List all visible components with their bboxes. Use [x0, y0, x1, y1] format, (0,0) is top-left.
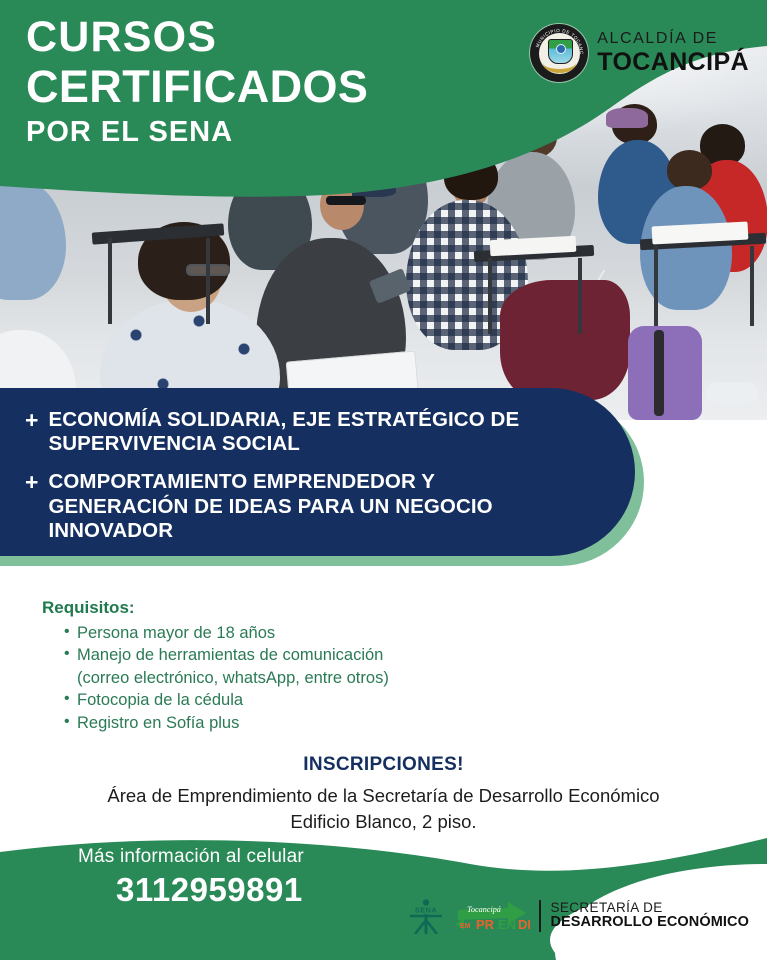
title-line-3: POR EL SENA: [26, 118, 368, 147]
plus-icon: +: [25, 408, 38, 433]
desk-leg: [108, 238, 112, 324]
shoe: [706, 382, 758, 404]
title-line-1: CURSOS: [26, 16, 368, 59]
municipal-seal-icon: MUNICIPIO DE TOCANCIPÁ INCLUSIÓN Y PROGR…: [530, 24, 588, 82]
sena-logo-icon: SENA: [407, 898, 445, 934]
header-title-block: CURSOS CERTIFICADOS POR EL SENA: [26, 16, 368, 147]
backpack: [628, 326, 702, 420]
alcaldia-line-2: TOCANCIPÁ: [597, 50, 749, 75]
seal-inner: [539, 33, 580, 74]
course-title: COMPORTAMIENTO EMPRENDEDOR Y GENERACIÓN …: [48, 470, 565, 543]
person-hat: [606, 108, 648, 128]
alcaldia-text: ALCALDÍA DE TOCANCIPÁ: [597, 31, 749, 75]
inscriptions-line-1: Área de Emprendimiento de la Secretaría …: [0, 784, 767, 808]
svg-text:DE: DE: [518, 917, 530, 932]
course-item: + ECONOMÍA SOLIDARIA, EJE ESTRATÉGICO DE…: [25, 408, 565, 456]
footer-section: Más información al celular 3112959891 SE…: [0, 820, 767, 960]
requirements-title: Requisitos:: [42, 598, 389, 618]
tocancipa-emprende-logo-icon: Tocancipá EM PR EN DE: [454, 898, 530, 934]
requirements-list: Persona mayor de 18 años Manejo de herra…: [42, 622, 389, 734]
desk-leg: [206, 238, 210, 324]
logo-divider: [539, 900, 541, 932]
backpack-strap: [654, 330, 664, 416]
footer-phone-number[interactable]: 3112959891: [116, 873, 304, 906]
desk-leg: [750, 246, 754, 326]
svg-text:Tocancipá: Tocancipá: [468, 905, 502, 914]
svg-text:EM: EM: [460, 923, 471, 930]
secretaria-line-2: DESARROLLO ECONÓMICO: [550, 915, 749, 931]
course-title: ECONOMÍA SOLIDARIA, EJE ESTRATÉGICO DE S…: [48, 408, 565, 456]
svg-text:SENA: SENA: [415, 906, 437, 915]
seal-wreath: [543, 53, 576, 73]
requirement-item: Manejo de herramientas de comunicación: [64, 644, 389, 666]
glasses-icon: [326, 196, 366, 205]
alcaldia-line-1: ALCALDÍA DE: [597, 31, 749, 47]
requirements-block: Requisitos: Persona mayor de 18 años Man…: [42, 598, 389, 734]
footer-contact: Más información al celular 3112959891: [78, 847, 304, 906]
person-body: [500, 280, 630, 400]
requirement-item: Fotocopia de la cédula: [64, 689, 389, 711]
title-line-2: CERTIFICADOS: [26, 64, 368, 109]
inscriptions-title: INSCRIPCIONES!: [0, 754, 767, 776]
plus-icon: +: [25, 470, 38, 495]
desk-leg: [488, 258, 492, 334]
desk-leg: [654, 246, 658, 326]
course-item: + COMPORTAMIENTO EMPRENDEDOR Y GENERACIÓ…: [25, 470, 565, 543]
footer-info-label: Más información al celular: [78, 847, 304, 866]
person-hair: [667, 150, 712, 190]
person-hair: [444, 152, 498, 200]
requirement-item: Persona mayor de 18 años: [64, 622, 389, 644]
svg-text:EN: EN: [498, 917, 516, 932]
desk-leg: [578, 258, 582, 334]
svg-text:PR: PR: [476, 917, 495, 932]
poster-root: CURSOS CERTIFICADOS POR EL SENA MUNICIPI…: [0, 0, 767, 960]
requirement-item-continuation: (correo electrónico, whatsApp, entre otr…: [64, 667, 389, 689]
alcaldia-logo: MUNICIPIO DE TOCANCIPÁ INCLUSIÓN Y PROGR…: [530, 24, 749, 82]
requirement-item: Registro en Sofía plus: [64, 712, 389, 734]
secretaria-text: SECRETARÍA DE DESARROLLO ECONÓMICO: [550, 901, 749, 932]
footer-logos: SENA Tocancipá EM PR EN DE: [407, 898, 749, 934]
courses-banner: + ECONOMÍA SOLIDARIA, EJE ESTRATÉGICO DE…: [0, 388, 635, 556]
